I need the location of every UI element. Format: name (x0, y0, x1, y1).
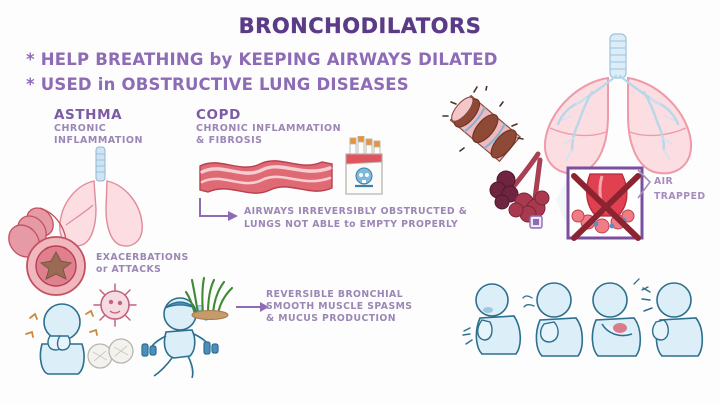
grass-pollen-icon (184, 272, 240, 320)
exacerbations-line-1: EXACERBATIONS (96, 252, 189, 265)
cigarette-pack-icon (338, 136, 388, 198)
copd-heading: COPD (196, 107, 241, 123)
asthma-subtitle-line-1: CHRONIC (54, 123, 106, 135)
fibrotic-tissue-icon (196, 152, 336, 200)
sputum-cough-figure (640, 278, 712, 358)
bullet-help-breathing: * HELP BREATHING by KEEPING AIRWAYS DILA… (26, 50, 498, 69)
bronchodilators-infographic: BRONCHODILATORS * HELP BREATHING by KEEP… (0, 0, 720, 404)
exacerbations-line-2: or ATTACKS (96, 264, 161, 277)
air-trapped-line-1: AIR (654, 176, 673, 189)
asthma-heading: ASTHMA (54, 107, 122, 123)
air-trapped-line-2: TRAPPED (654, 191, 706, 204)
asthma-mechanism-line-1: REVERSIBLE BRONCHIAL (266, 289, 403, 302)
arrow-right-icon (236, 300, 270, 314)
asthma-mechanism-line-3: & MUCUS PRODUCTION (266, 313, 396, 326)
pollen-particles-icon (84, 336, 140, 372)
copd-subtitle-line-1: CHRONIC INFLAMMATION (196, 123, 341, 135)
virus-icon (92, 282, 138, 328)
asthma-mechanism-line-2: SMOOTH MUSCLE SPASMS (266, 301, 412, 314)
copd-subtitle-line-2: & FIBROSIS (196, 135, 262, 147)
copd-callout-line-2: LUNGS NOT ABLE to EMPTY PROPERLY (244, 219, 458, 232)
bullet-obstructive-lung: * USED in OBSTRUCTIVE LUNG DISEASES (26, 75, 409, 94)
copd-callout-arrow-icon (196, 198, 240, 226)
copd-callout-line-1: AIRWAYS IRREVERSIBLY OBSTRUCTED & (244, 206, 467, 219)
